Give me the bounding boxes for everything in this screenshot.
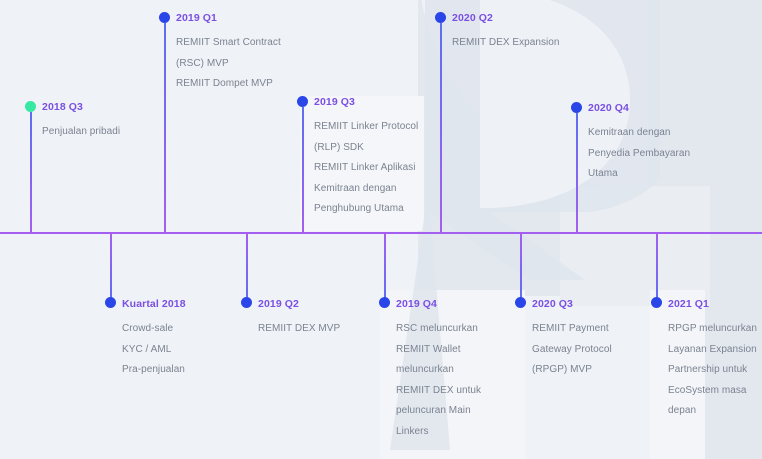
node-line: REMIIT Dompet MVP bbox=[176, 74, 281, 95]
node-line: Partnership untuk bbox=[668, 360, 757, 381]
node-stem bbox=[576, 113, 578, 232]
node-stem bbox=[384, 233, 386, 303]
node-stem bbox=[246, 233, 248, 303]
node-title: 2020 Q4 bbox=[588, 102, 690, 114]
node-stem bbox=[656, 233, 658, 303]
node-title: 2020 Q2 bbox=[452, 12, 560, 24]
node-line: (RSC) MVP bbox=[176, 54, 281, 75]
node-dot-icon bbox=[435, 12, 446, 23]
node-line: Gateway Protocol bbox=[532, 340, 612, 361]
node-dot-icon bbox=[297, 96, 308, 107]
node-stem bbox=[110, 233, 112, 303]
remiit-logo-watermark-icon bbox=[330, 0, 660, 450]
node-line: peluncuran Main bbox=[396, 401, 481, 422]
node-label: 2019 Q1 REMIIT Smart Contract (RSC) MVP … bbox=[176, 12, 281, 95]
node-line: REMIIT Linker Protocol bbox=[314, 117, 418, 138]
node-line: Kemitraan dengan bbox=[588, 123, 690, 144]
node-line: REMIIT Smart Contract bbox=[176, 33, 281, 54]
node-line: Pra-penjualan bbox=[122, 360, 186, 381]
node-line: Layanan Expansion bbox=[668, 340, 757, 361]
node-stem bbox=[164, 23, 166, 232]
node-stem bbox=[440, 23, 442, 232]
node-line: REMIIT Linker Aplikasi bbox=[314, 158, 418, 179]
node-line: meluncurkan bbox=[396, 360, 481, 381]
node-dot-green-icon bbox=[25, 101, 36, 112]
node-line: Penyedia Pembayaran bbox=[588, 144, 690, 165]
node-title: 2019 Q1 bbox=[176, 12, 281, 24]
node-line: Penghubung Utama bbox=[314, 199, 418, 220]
node-dot-icon bbox=[571, 102, 582, 113]
node-dot-icon bbox=[379, 297, 390, 308]
node-label: 2019 Q4 RSC meluncurkan REMIIT Wallet me… bbox=[396, 298, 481, 442]
node-label: 2020 Q3 REMIIT Payment Gateway Protocol … bbox=[532, 298, 612, 381]
node-title: 2019 Q3 bbox=[314, 96, 418, 108]
node-line: REMIIT DEX MVP bbox=[258, 319, 340, 340]
node-label: 2020 Q2 REMIIT DEX Expansion bbox=[452, 12, 560, 54]
node-line: REMIIT Payment bbox=[532, 319, 612, 340]
node-line: Utama bbox=[588, 164, 690, 185]
node-label: 2019 Q2 REMIIT DEX MVP bbox=[258, 298, 340, 340]
node-title: 2019 Q4 bbox=[396, 298, 481, 310]
node-label: 2019 Q3 REMIIT Linker Protocol (RLP) SDK… bbox=[314, 96, 418, 220]
node-line: (RLP) SDK bbox=[314, 138, 418, 159]
node-dot-icon bbox=[515, 297, 526, 308]
node-line: (RPGP) MVP bbox=[532, 360, 612, 381]
node-stem bbox=[302, 107, 304, 232]
node-title: Kuartal 2018 bbox=[122, 298, 186, 310]
node-line: RSC meluncurkan bbox=[396, 319, 481, 340]
node-title: 2018 Q3 bbox=[42, 101, 120, 113]
node-stem bbox=[520, 233, 522, 303]
node-dot-icon bbox=[105, 297, 116, 308]
node-line: REMIIT Wallet bbox=[396, 340, 481, 361]
roadmap-timeline-canvas: 2018 Q3 Penjualan pribadi 2019 Q1 REMIIT… bbox=[0, 0, 762, 459]
background-card-right bbox=[560, 186, 710, 306]
node-line: REMIIT DEX untuk bbox=[396, 381, 481, 402]
node-label: 2020 Q4 Kemitraan dengan Penyedia Pembay… bbox=[588, 102, 690, 185]
node-line: RPGP meluncurkan bbox=[668, 319, 757, 340]
node-title: 2019 Q2 bbox=[258, 298, 340, 310]
roadmap-axis bbox=[0, 232, 762, 234]
node-line: Linkers bbox=[396, 422, 481, 443]
node-line: Crowd-sale bbox=[122, 319, 186, 340]
node-dot-icon bbox=[159, 12, 170, 23]
node-stem bbox=[30, 112, 32, 232]
node-title: 2021 Q1 bbox=[668, 298, 757, 310]
node-title: 2020 Q3 bbox=[532, 298, 612, 310]
node-dot-icon bbox=[241, 297, 252, 308]
node-line: depan bbox=[668, 401, 757, 422]
node-label: 2018 Q3 Penjualan pribadi bbox=[42, 101, 120, 143]
node-line: Penjualan pribadi bbox=[42, 122, 120, 143]
node-label: Kuartal 2018 Crowd-sale KYC / AML Pra-pe… bbox=[122, 298, 186, 381]
node-line: KYC / AML bbox=[122, 340, 186, 361]
node-label: 2021 Q1 RPGP meluncurkan Layanan Expansi… bbox=[668, 298, 757, 422]
node-line: REMIIT DEX Expansion bbox=[452, 33, 560, 54]
node-dot-icon bbox=[651, 297, 662, 308]
node-line: EcoSystem masa bbox=[668, 381, 757, 402]
node-line: Kemitraan dengan bbox=[314, 179, 418, 200]
